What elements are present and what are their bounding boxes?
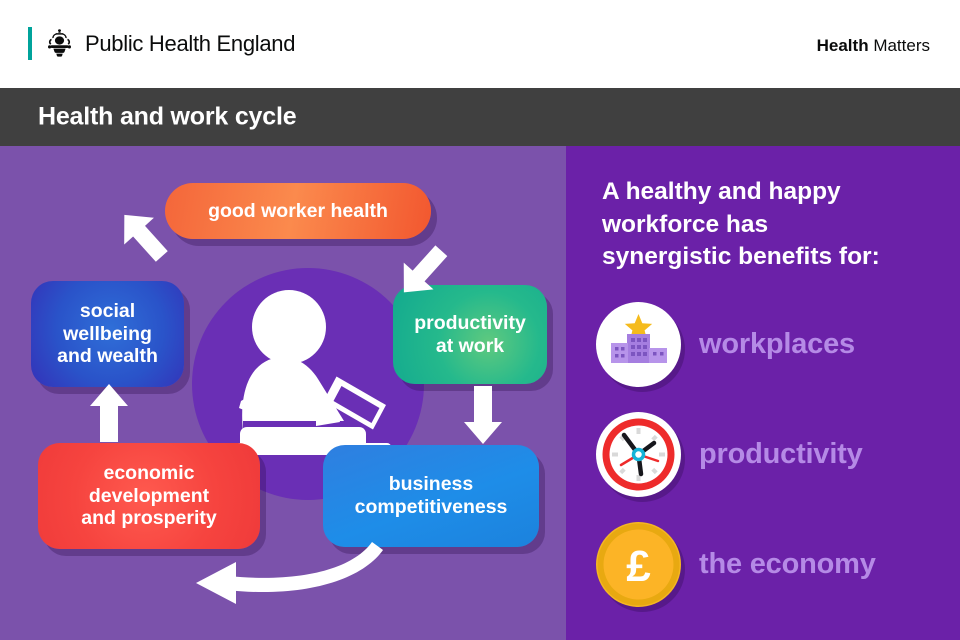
benefits-heading-line: workforce has	[602, 209, 942, 242]
pound-coin-icon: £	[596, 522, 681, 607]
cycle-node-label: wellbeing	[49, 323, 166, 346]
cycle-node-label: competitiveness	[347, 496, 516, 519]
cycle-node-label: development	[73, 485, 224, 508]
infographic-page: Public Health England Health Matters Hea…	[0, 0, 960, 640]
cycle-node-label: business	[347, 473, 516, 496]
benefits-heading-line: synergistic benefits for:	[602, 241, 942, 274]
brand-health-matters: Health Matters	[817, 36, 930, 56]
benefits-heading: A healthy and happy workforce has synerg…	[602, 176, 942, 274]
svg-text:£: £	[626, 542, 651, 591]
logo-accent-bar	[28, 27, 32, 60]
brand-regular: Matters	[869, 36, 930, 55]
benefit-item-the-economy[interactable]: £ the economy	[596, 522, 876, 607]
cycle-node-label: and wealth	[49, 345, 166, 368]
cycle-node-social-wellbeing[interactable]: social wellbeing and wealth	[31, 281, 184, 387]
benefit-label: productivity	[699, 438, 863, 471]
cycle-node-label: economic	[73, 462, 224, 485]
cycle-node-label: productivity	[406, 312, 534, 335]
phe-logo: Public Health England	[28, 27, 295, 60]
royal-crest-icon	[43, 27, 76, 60]
cycle-node-good-worker-health[interactable]: good worker health	[165, 183, 431, 239]
brand-bold: Health	[817, 36, 869, 55]
cycle-node-label: social	[49, 300, 166, 323]
logo-text: Public Health England	[85, 31, 295, 57]
benefit-item-productivity[interactable]: productivity	[596, 412, 863, 497]
page-header: Public Health England Health Matters	[0, 0, 960, 88]
title-bar: Health and work cycle	[0, 88, 960, 146]
cycle-node-business-competitiveness[interactable]: business competitiveness	[323, 445, 539, 547]
benefits-heading-line: A healthy and happy	[602, 176, 942, 209]
buildings-with-star-icon	[596, 302, 681, 387]
cycle-node-label: and prosperity	[73, 507, 224, 530]
cycle-node-economic-development[interactable]: economic development and prosperity	[38, 443, 260, 549]
cycle-node-productivity-at-work[interactable]: productivity at work	[393, 285, 547, 384]
benefit-item-workplaces[interactable]: workplaces	[596, 302, 855, 387]
page-title: Health and work cycle	[38, 103, 296, 132]
benefit-label: the economy	[699, 548, 876, 581]
clock-icon	[596, 412, 681, 497]
cycle-node-label: good worker health	[200, 200, 396, 223]
cycle-node-label: at work	[406, 335, 534, 358]
benefit-label: workplaces	[699, 328, 855, 361]
